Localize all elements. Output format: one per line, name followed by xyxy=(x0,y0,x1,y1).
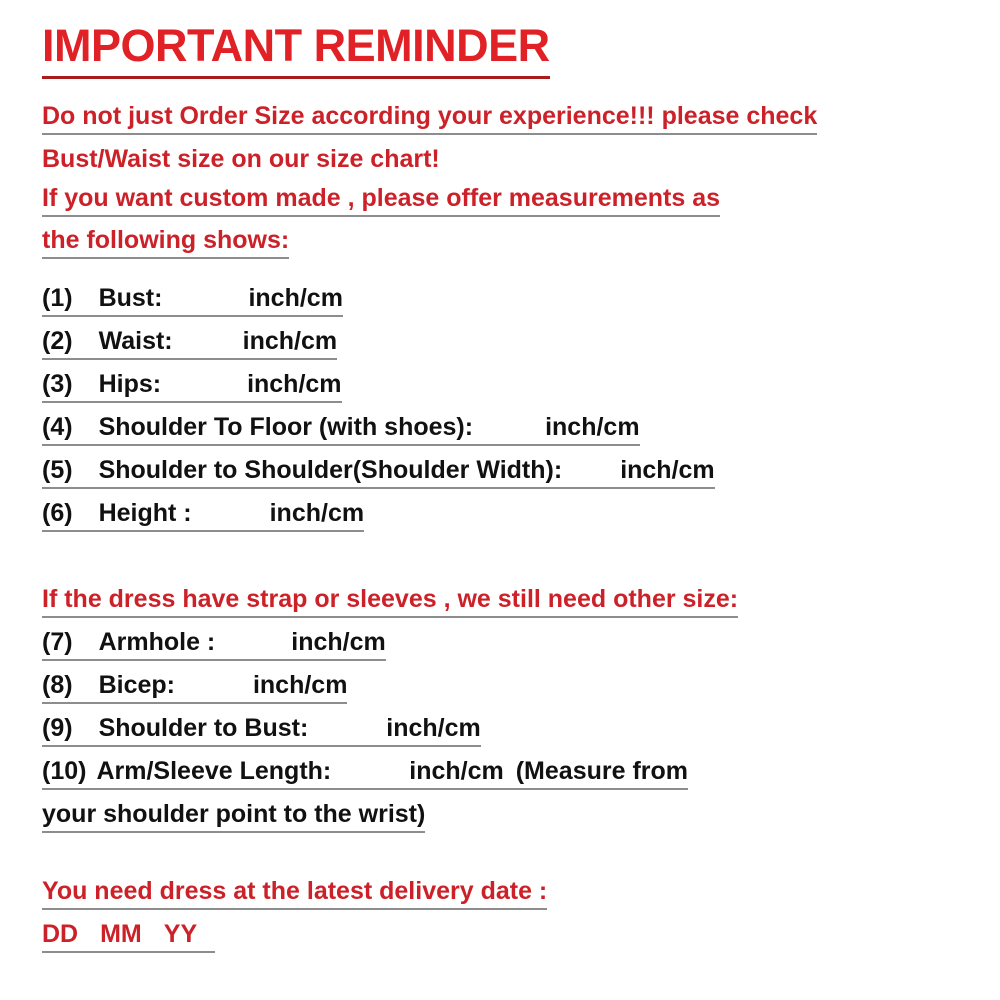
measurement-number: (7) xyxy=(42,627,73,657)
measurement-label: Waist: xyxy=(99,327,173,355)
measurement-label: Height : xyxy=(99,499,192,527)
measurement-unit: inch/cm xyxy=(253,671,347,699)
measurement-row-3: (3)Hips:inch/cm xyxy=(42,369,342,403)
measurement-unit: inch/cm xyxy=(248,284,342,312)
delivery-date-heading: You need dress at the latest delivery da… xyxy=(42,876,547,910)
measurement-number: (6) xyxy=(42,498,73,528)
reminder-document: IMPORTANT REMINDER Do not just Order Siz… xyxy=(0,0,1000,1000)
measurement-number: (8) xyxy=(42,670,73,700)
strap-section-heading: If the dress have strap or sleeves , we … xyxy=(42,584,738,618)
measurement-number: (1) xyxy=(42,283,73,313)
measurement-note: (Measure from xyxy=(516,757,688,785)
page-title-row: IMPORTANT REMINDER xyxy=(42,20,550,79)
measurement-label: Shoulder to Bust: xyxy=(99,714,309,742)
measurement-note-continuation: your shoulder point to the wrist) xyxy=(42,799,425,833)
measurement-unit: inch/cm xyxy=(291,628,385,656)
measurement-label: Hips: xyxy=(99,370,162,398)
measurement-row-10: (10)Arm/Sleeve Length:inch/cm(Measure fr… xyxy=(42,756,688,790)
measurement-label: Bust: xyxy=(99,284,163,312)
intro-line-1: Do not just Order Size according your ex… xyxy=(42,101,817,135)
measurement-row-9: (9)Shoulder to Bust:inch/cm xyxy=(42,713,481,747)
measurement-unit: inch/cm xyxy=(247,370,341,398)
measurement-label: Bicep: xyxy=(99,671,175,699)
measurement-number: (3) xyxy=(42,369,73,399)
intro-line-2: Bust/Waist size on our size chart! xyxy=(42,144,440,176)
measurement-row-1: (1)Bust:inch/cm xyxy=(42,283,343,317)
measurement-label: Armhole : xyxy=(99,628,216,656)
measurement-row-5: (5)Shoulder to Shoulder(Shoulder Width):… xyxy=(42,455,715,489)
measurement-number: (5) xyxy=(42,455,73,485)
measurement-unit: inch/cm xyxy=(409,757,503,785)
page-title: IMPORTANT REMINDER xyxy=(42,20,550,79)
measurement-number: (2) xyxy=(42,326,73,356)
measurement-row-2: (2)Waist:inch/cm xyxy=(42,326,337,360)
measurement-number: (9) xyxy=(42,713,73,743)
delivery-day-field[interactable]: DD xyxy=(42,920,78,948)
delivery-year-field[interactable]: YY xyxy=(164,920,197,948)
measurement-unit: inch/cm xyxy=(243,327,337,355)
measurement-number: (4) xyxy=(42,412,73,442)
measurement-row-8: (8)Bicep:inch/cm xyxy=(42,670,347,704)
measurement-number: (10) xyxy=(42,756,86,786)
measurement-row-6: (6)Height :inch/cm xyxy=(42,498,364,532)
measurement-row-7: (7)Armhole :inch/cm xyxy=(42,627,386,661)
measurement-label: Shoulder to Shoulder(Shoulder Width): xyxy=(99,456,563,484)
measurement-row-4: (4)Shoulder To Floor (with shoes):inch/c… xyxy=(42,412,640,446)
measurement-unit: inch/cm xyxy=(270,499,364,527)
intro-line-3: If you want custom made , please offer m… xyxy=(42,183,720,217)
measurement-label: Arm/Sleeve Length: xyxy=(96,757,331,785)
measurement-label: Shoulder To Floor (with shoes): xyxy=(99,413,474,441)
intro-line-4: the following shows: xyxy=(42,225,289,259)
measurement-unit: inch/cm xyxy=(620,456,714,484)
measurement-unit: inch/cm xyxy=(386,714,480,742)
delivery-month-field[interactable]: MM xyxy=(100,920,142,948)
delivery-date-fields: DDMMYY xyxy=(42,919,215,953)
measurement-unit: inch/cm xyxy=(545,413,639,441)
